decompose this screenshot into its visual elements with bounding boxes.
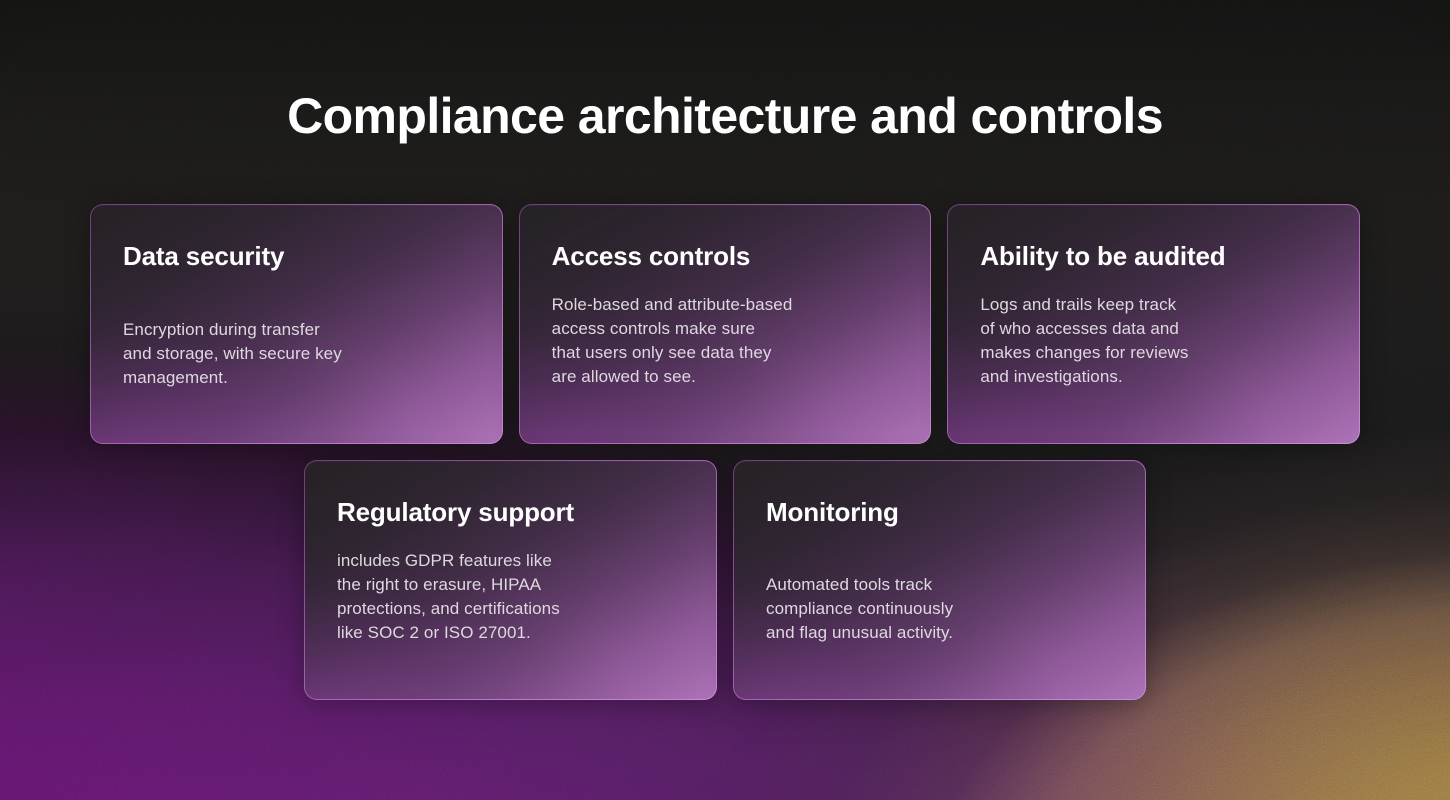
card-body: includes GDPR features like the right to… bbox=[337, 549, 684, 645]
page-title: Compliance architecture and controls bbox=[0, 89, 1450, 143]
card-body: Role-based and attribute-based access co… bbox=[552, 293, 899, 389]
card-row-top: Data security Encryption during transfer… bbox=[90, 204, 1360, 444]
card-ability-to-be-audited[interactable]: Ability to be audited Logs and trails ke… bbox=[947, 204, 1360, 444]
card-heading: Regulatory support bbox=[337, 497, 684, 528]
card-heading: Ability to be audited bbox=[980, 241, 1327, 272]
card-row-bottom: Regulatory support includes GDPR feature… bbox=[90, 460, 1360, 700]
card-body: Encryption during transfer and storage, … bbox=[123, 318, 470, 390]
card-access-controls[interactable]: Access controls Role-based and attribute… bbox=[519, 204, 932, 444]
card-heading: Data security bbox=[123, 241, 470, 272]
card-body: Logs and trails keep track of who access… bbox=[980, 293, 1327, 389]
card-body: Automated tools track compliance continu… bbox=[766, 573, 1113, 645]
card-heading: Monitoring bbox=[766, 497, 1113, 528]
slide-root: Compliance architecture and controls Dat… bbox=[0, 0, 1450, 800]
card-regulatory-support[interactable]: Regulatory support includes GDPR feature… bbox=[304, 460, 717, 700]
feature-card-grid: Data security Encryption during transfer… bbox=[90, 204, 1360, 700]
card-heading: Access controls bbox=[552, 241, 899, 272]
card-data-security[interactable]: Data security Encryption during transfer… bbox=[90, 204, 503, 444]
slide-content: Compliance architecture and controls Dat… bbox=[0, 0, 1450, 800]
card-monitoring[interactable]: Monitoring Automated tools track complia… bbox=[733, 460, 1146, 700]
